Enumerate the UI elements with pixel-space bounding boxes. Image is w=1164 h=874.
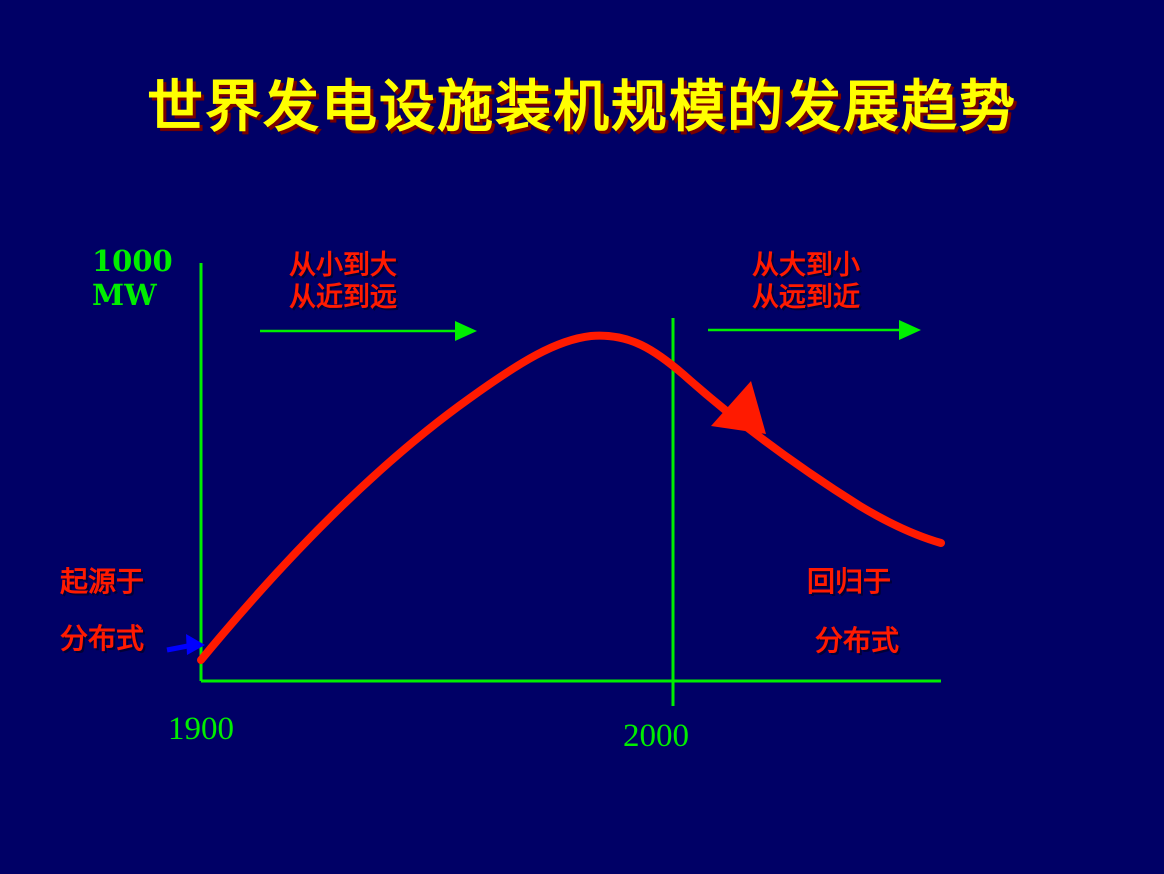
origin-pointer-arrow-icon xyxy=(167,634,205,655)
right-phase-annotation: 从大到小 从远到近 xyxy=(752,250,860,314)
origin-annotation: 起源于 分布式 xyxy=(60,565,144,655)
left-trend-arrow-icon xyxy=(260,321,477,341)
right-phase-line2: 从远到近 xyxy=(752,282,860,314)
origin-line2: 分布式 xyxy=(60,622,144,655)
right-phase-line1: 从大到小 xyxy=(752,250,860,282)
slide-canvas: 世界发电设施装机规模的发展趋势 1000 MW xyxy=(0,0,1164,874)
left-phase-annotation: 从小到大 从近到远 xyxy=(289,250,397,314)
y-axis-unit-label: 1000 MW xyxy=(92,244,173,312)
x-tick-label-1900: 1900 xyxy=(168,710,234,749)
x-tick-label-2000: 2000 xyxy=(623,717,689,756)
return-line1: 回归于 xyxy=(807,565,899,598)
origin-line1: 起源于 xyxy=(60,565,144,598)
return-annotation: 回归于 分布式 xyxy=(807,565,899,657)
return-line2: 分布式 xyxy=(815,624,899,657)
right-trend-arrow-icon xyxy=(708,320,921,340)
y-axis-unit-line1: 1000 xyxy=(92,244,173,278)
y-axis-unit-line2: MW xyxy=(92,278,173,312)
left-phase-line1: 从小到大 xyxy=(289,250,397,282)
left-phase-line2: 从近到远 xyxy=(289,282,397,314)
